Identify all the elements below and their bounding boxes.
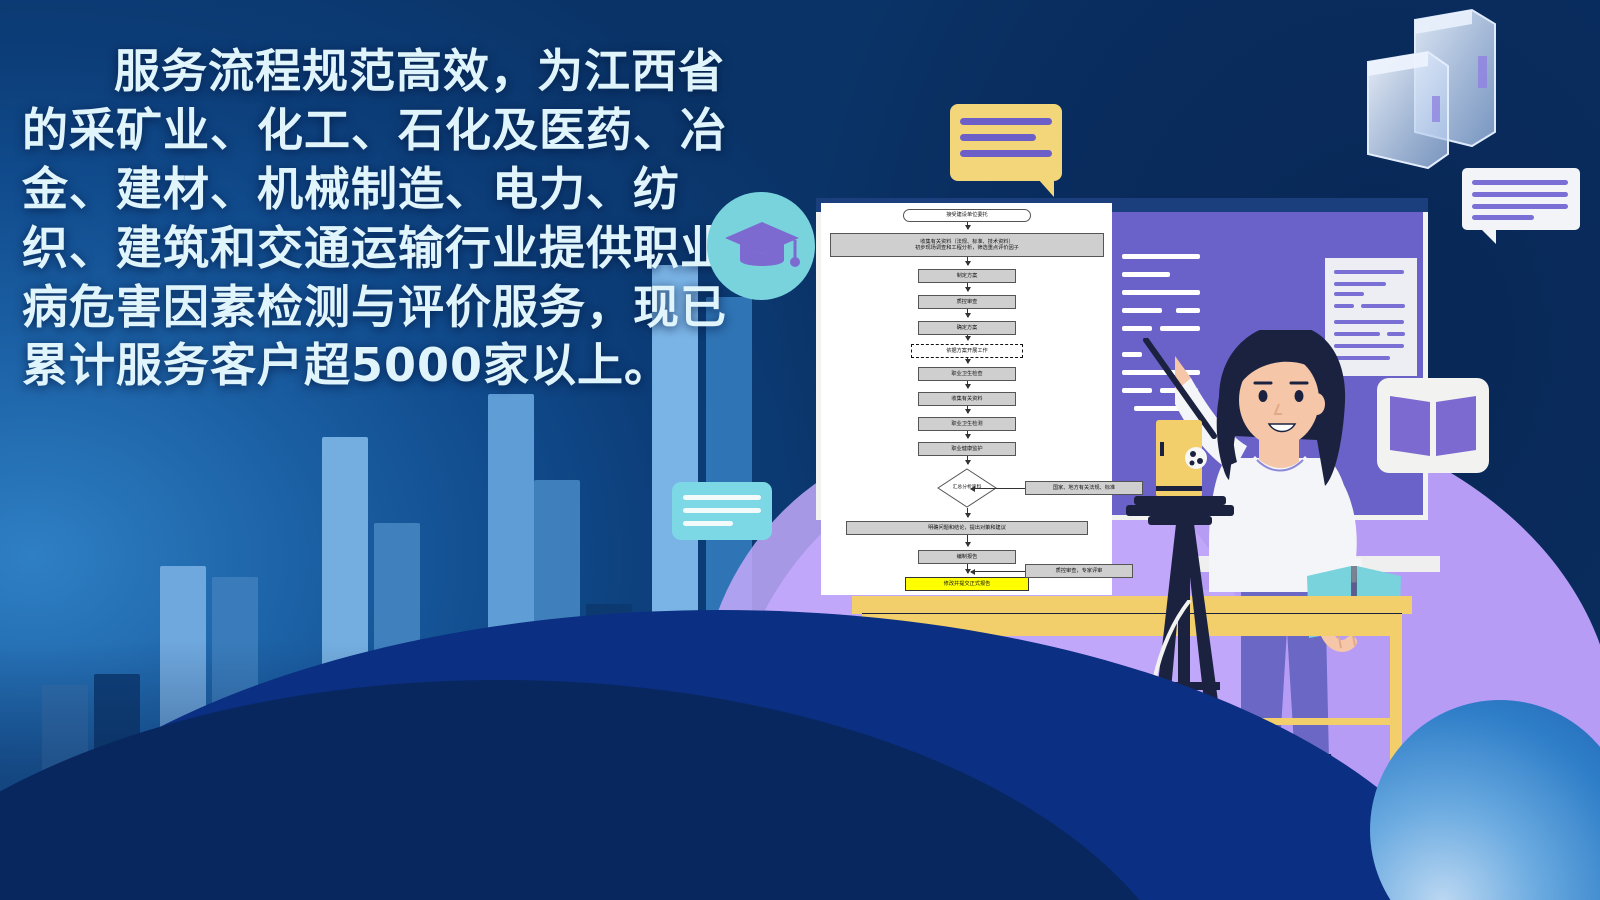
flow-arrow <box>967 508 968 517</box>
flow-arrow <box>967 257 968 265</box>
flow-node: 收集有关资料 <box>918 392 1016 406</box>
flow-node: 职业卫生检测 <box>918 417 1016 431</box>
flow-node-label: 依据方案开展工作 <box>946 348 988 355</box>
flow-node-label: 收集有关资料 <box>951 396 982 403</box>
flow-arrow <box>967 535 968 546</box>
headline-line-2: 的采矿业、化工、石化及医药、冶 <box>22 103 727 157</box>
flow-arrow <box>967 222 968 229</box>
flow-node-label: 职业卫生检测 <box>951 421 982 428</box>
flow-node: 编制报告 <box>918 550 1016 564</box>
flow-node: 确定方案 <box>918 321 1016 335</box>
speech-bubble-icon <box>950 104 1062 181</box>
flow-node-label: 收集有关资料（法规、标准、技术资料）初步现场调查和工程分析，筛选重点评价因子 <box>915 239 1019 252</box>
note-card-icon <box>672 482 772 540</box>
flow-node-label: 修改并提交正式报告 <box>944 581 991 588</box>
page-title: 服务流程规范高效，为江西省 的采矿业、化工、石化及医药、冶 金、建材、机械制造、… <box>22 42 762 395</box>
flow-arrow <box>967 283 968 291</box>
flowchart-whiteboard: 接受建设单位委托收集有关资料（法规、标准、技术资料）初步现场调查和工程分析，筛选… <box>821 203 1112 595</box>
flow-node-label: 确定方案 <box>957 325 978 332</box>
flow-node-label: 制定方案 <box>957 273 978 280</box>
headline-line-3: 金、建材、机械制造、电力、纺 <box>22 162 680 216</box>
flow-arrow <box>967 358 968 363</box>
flow-node-label: 职业健康监护 <box>951 446 982 453</box>
flow-node-label: 接受建设单位委托 <box>946 212 988 219</box>
headline-line-4: 织、建筑和交通运输行业提供职业 <box>22 221 727 275</box>
flow-arrow <box>967 381 968 388</box>
flow-arrow <box>967 564 968 573</box>
graduation-cap-icon <box>707 192 815 300</box>
flow-arrow <box>967 309 968 317</box>
books-icon <box>1320 4 1540 194</box>
flow-node: 接受建设单位委托 <box>903 209 1031 222</box>
flow-connector <box>971 571 1025 572</box>
flow-node: 修改并提交正式报告 <box>905 577 1029 591</box>
flow-node: 职业健康监护 <box>918 442 1016 456</box>
flow-node: 明确问题和结论，提出对策和建议 <box>846 521 1088 535</box>
flow-node: 依据方案开展工作 <box>911 344 1023 358</box>
flow-arrow <box>967 456 968 464</box>
flow-node: 质控审查 <box>918 295 1016 309</box>
flow-node-label: 明确问题和结论，提出对策和建议 <box>928 525 1006 532</box>
flow-node: 制定方案 <box>918 269 1016 283</box>
flow-arrow <box>967 431 968 438</box>
flow-arrow <box>967 335 968 340</box>
flow-connector <box>971 488 1025 489</box>
headline-line-5: 病危害因素检测与评价服务，现已 <box>22 280 727 334</box>
poster-canvas: 服务流程规范高效，为江西省 的采矿业、化工、石化及医药、冶 金、建材、机械制造、… <box>0 0 1600 900</box>
flow-node: 收集有关资料（法规、标准、技术资料）初步现场调查和工程分析，筛选重点评价因子 <box>830 233 1104 257</box>
flow-node-label: 质控审查 <box>957 299 978 306</box>
headline-line-1: 服务流程规范高效，为江西省 <box>22 42 762 101</box>
flow-node: 职业卫生检查 <box>918 367 1016 381</box>
flow-node-label: 编制报告 <box>957 554 978 561</box>
flow-arrow <box>967 406 968 413</box>
speech-bubble-icon <box>1462 168 1580 230</box>
headline-line-6: 累计服务客户超5000家以上。 <box>22 338 671 392</box>
flow-node-label: 职业卫生检查 <box>951 371 982 378</box>
